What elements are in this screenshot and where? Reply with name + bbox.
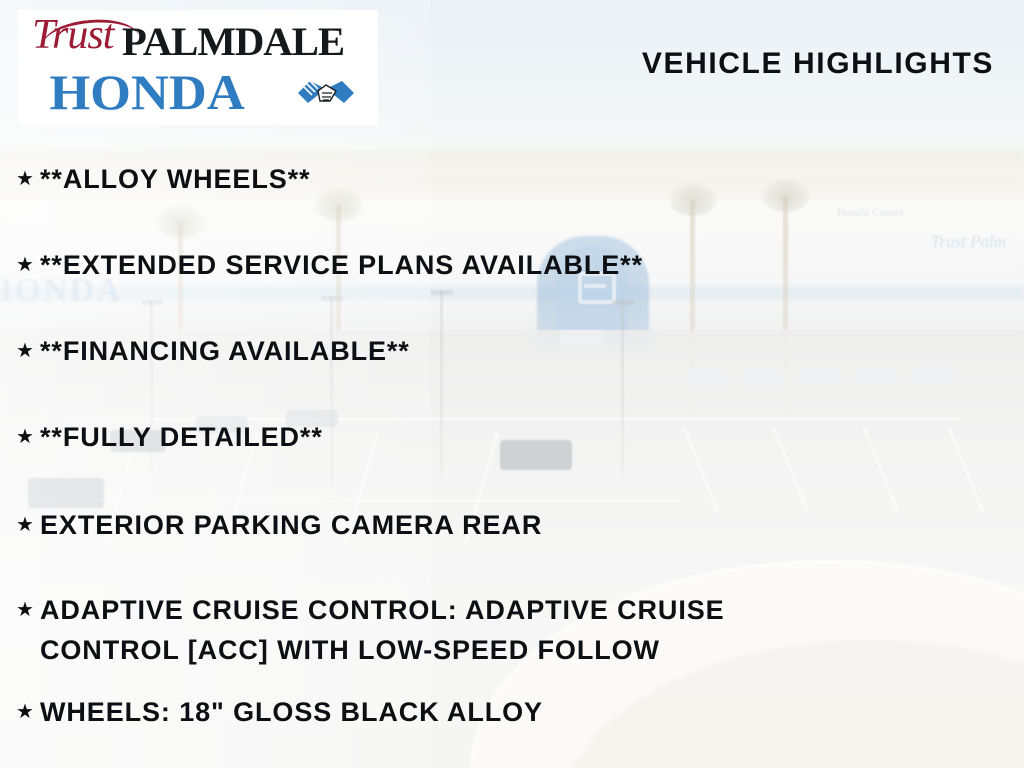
highlight-text: EXTERIOR PARKING CAMERA REAR xyxy=(40,504,1016,547)
star-bullet-icon: ★ xyxy=(10,158,40,201)
star-bullet-icon: ★ xyxy=(10,244,40,287)
logo-top-row: Trust PALMDALE xyxy=(28,16,368,71)
list-item: ★ **FULLY DETAILED** xyxy=(0,416,1024,459)
highlight-text: **FULLY DETAILED** xyxy=(40,416,1016,459)
star-bullet-icon: ★ xyxy=(10,587,40,633)
vehicle-highlights-slide: Honda Center Trust Palm HONDA xyxy=(0,0,1024,768)
highlight-text: WHEELS: 18" GLOSS BLACK ALLOY xyxy=(40,691,1016,734)
highlight-text: **FINANCING AVAILABLE** xyxy=(40,330,1016,373)
handshake-icon xyxy=(296,73,356,113)
highlight-text: **EXTENDED SERVICE PLANS AVAILABLE** xyxy=(40,244,1016,287)
list-item: ★ WHEELS: 18" GLOSS BLACK ALLOY xyxy=(0,691,1024,734)
list-item: ★ **EXTENDED SERVICE PLANS AVAILABLE** xyxy=(0,244,1024,287)
logo-palmdale-text: PALMDALE xyxy=(122,22,344,62)
vehicle-highlights-list: ★ **ALLOY WHEELS** ★ **EXTENDED SERVICE … xyxy=(0,140,1024,734)
list-item: ★ EXTERIOR PARKING CAMERA REAR xyxy=(0,504,1024,547)
list-item: ★ **ALLOY WHEELS** xyxy=(0,158,1024,201)
star-bullet-icon: ★ xyxy=(10,330,40,373)
list-item: ★ **FINANCING AVAILABLE** xyxy=(0,330,1024,373)
highlight-text: **ALLOY WHEELS** xyxy=(40,158,1016,201)
logo-honda-text: HONDA xyxy=(49,67,244,117)
star-bullet-icon: ★ xyxy=(10,504,40,547)
star-bullet-icon: ★ xyxy=(10,691,40,734)
highlight-text: ADAPTIVE CRUISE CONTROL: ADAPTIVE CRUISE… xyxy=(40,587,1016,670)
logo-trust-text: Trust xyxy=(32,14,113,56)
page-title: VEHICLE HIGHLIGHTS xyxy=(642,47,994,81)
dealer-logo[interactable]: Trust PALMDALE HONDA xyxy=(18,10,378,125)
star-bullet-icon: ★ xyxy=(10,416,40,459)
list-item: ★ ADAPTIVE CRUISE CONTROL: ADAPTIVE CRUI… xyxy=(0,587,1024,673)
logo-bottom-row: HONDA xyxy=(28,71,368,121)
